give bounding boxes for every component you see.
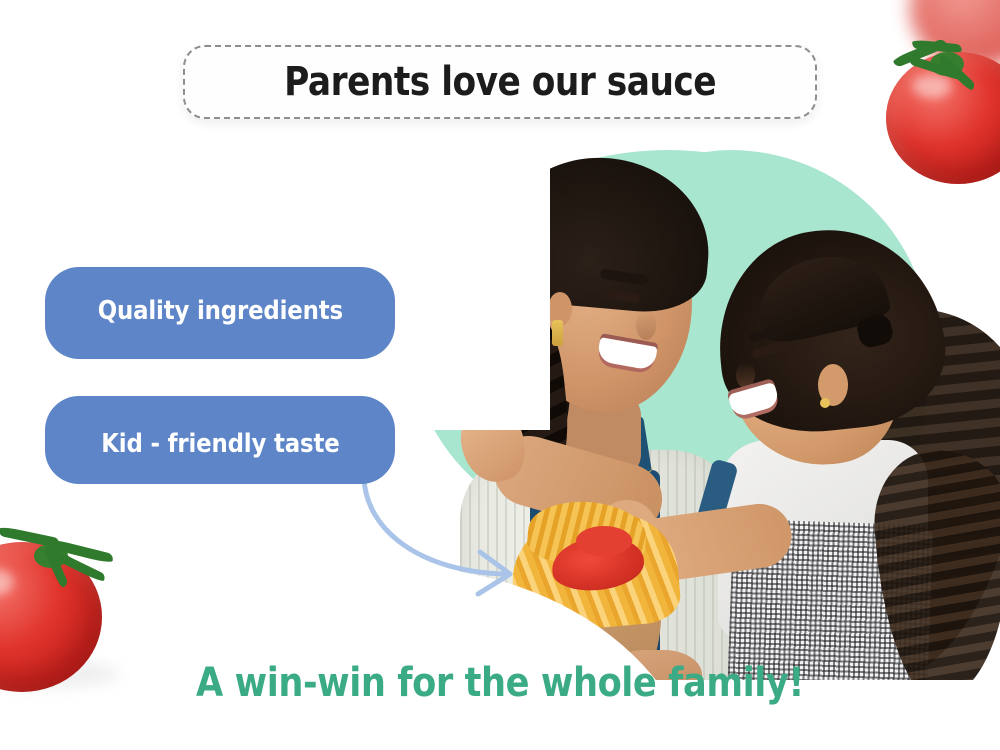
feature-pill-label: Quality ingredients: [97, 296, 342, 326]
photo-mask-top-left: [400, 120, 550, 430]
ketchup-highlight: [576, 526, 632, 556]
child-earring: [820, 398, 830, 408]
mother-earring: [552, 320, 563, 346]
footer-tagline: A win-win for the whole family!: [60, 660, 940, 706]
feature-pill-label: Kid - friendly taste: [101, 429, 339, 459]
promo-banner: Quality ingredients Kid - friendly taste…: [0, 0, 1000, 750]
feature-pill-kid-friendly-taste[interactable]: Kid - friendly taste: [45, 396, 395, 484]
child-nose: [736, 362, 755, 388]
page-title: Parents love our sauce: [284, 59, 716, 105]
mother-nose: [636, 310, 656, 340]
title-box: Parents love our sauce: [183, 45, 817, 119]
feature-pill-quality-ingredients[interactable]: Quality ingredients: [45, 267, 395, 359]
tomato-bottom-left-icon: [0, 528, 110, 688]
tomato-top-right-icon: [878, 36, 1000, 176]
